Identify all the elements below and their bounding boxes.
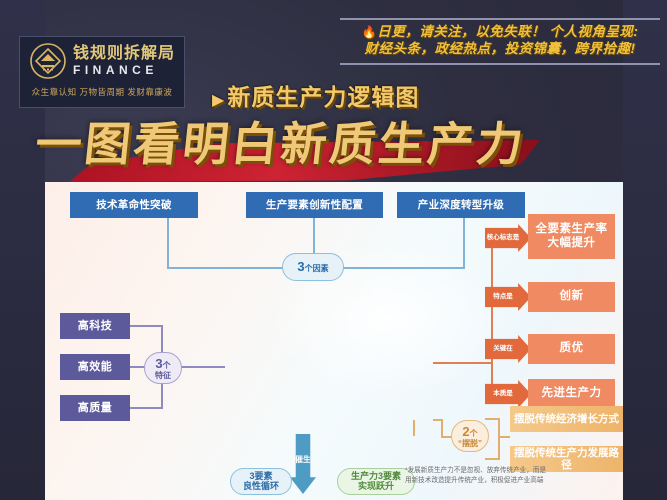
causal-arrow-label: 催生 xyxy=(295,454,311,465)
connector-line xyxy=(498,418,500,460)
connector-line xyxy=(433,362,493,364)
factor-node-unit: 个 xyxy=(305,264,313,273)
brand-logo-row: 钱规则拆解局 FINANCE xyxy=(29,42,175,80)
right-box-innovation-label: 创新 xyxy=(560,290,584,303)
tag-arrow-essence: 本质是 xyxy=(485,380,531,408)
tag-arrow-core-marker: 核心标志是 xyxy=(485,224,531,252)
right-box-quality[interactable]: 质优 xyxy=(528,334,615,364)
left-box-high-tech[interactable]: 高科技 xyxy=(60,313,130,339)
diagram-footnote: *发展新质生产力不是忽视、放弃传统产业，而是 用新技术改造提升传统产业，积极促进… xyxy=(405,466,617,485)
tag-arrow-essence-label: 本质是 xyxy=(493,391,513,398)
right-box-productivity[interactable]: 全要素生产率 大幅提升 xyxy=(528,214,615,259)
escape-box-growth-mode[interactable]: 摆脱传统经济增长方式 xyxy=(510,406,623,432)
tag-arrow-core-marker-label: 核心标志是 xyxy=(487,235,520,242)
right-box-advanced-productivity[interactable]: 先进生产力 xyxy=(528,379,615,409)
brand-tagline: 众生靠认知 万物皆周期 发财靠康波 xyxy=(32,86,173,98)
top-box-technology-label: 技术革命性突破 xyxy=(96,199,172,211)
brand-name-cn: 钱规则拆解局 xyxy=(73,46,175,62)
escape-node-line1: 2个 xyxy=(462,423,477,441)
trait-node-number: 3 xyxy=(155,356,162,371)
diagram-canvas: 技术革命性突破 生产要素创新性配置 产业深度转型升级 3个因素 催生 高科技 高… xyxy=(45,182,623,500)
trait-count-node: 3个 特征 xyxy=(144,352,182,384)
right-box-innovation[interactable]: 创新 xyxy=(528,282,615,312)
right-box-advanced-productivity-label: 先进生产力 xyxy=(542,387,602,400)
connector-line xyxy=(413,420,415,436)
brand-text: 钱规则拆解局 FINANCE xyxy=(73,46,175,76)
flame-icon: 🔥 xyxy=(362,25,377,39)
left-box-high-quality-label: 高质量 xyxy=(78,402,113,415)
connector-line xyxy=(463,218,465,268)
connector-line xyxy=(485,418,499,420)
top-box-technology[interactable]: 技术革命性突破 xyxy=(70,192,198,218)
bottom-node-productivity-leap: 生产力3要素 实现跃升 xyxy=(337,468,415,495)
promo-line-1: 🔥日更，请关注，以免失联！ 个人视角呈现: xyxy=(340,24,660,41)
escape-count-node: 2个 “摆脱” xyxy=(451,420,489,452)
right-box-productivity-label: 全要素生产率 大幅提升 xyxy=(536,223,608,249)
factor-node-number: 3 xyxy=(297,259,304,274)
brand-name-en: FINANCE xyxy=(73,64,175,76)
right-box-quality-label: 质优 xyxy=(560,342,584,355)
escape-box-growth-mode-label: 摆脱传统经济增长方式 xyxy=(514,413,619,425)
escape-node-unit: 个 xyxy=(470,429,478,438)
left-box-high-quality[interactable]: 高质量 xyxy=(60,395,130,421)
promo-line-2: 财经头条，政经热点，投资锦囊，跨界拾趣! xyxy=(340,41,660,58)
trait-node-line1: 3个 xyxy=(155,355,170,373)
factor-node-word: 因素 xyxy=(313,264,329,273)
connector-line xyxy=(498,436,510,438)
trait-node-unit: 个 xyxy=(163,361,171,370)
promo-line-1-text: 日更，请关注，以免失联！ 个人视角呈现: xyxy=(377,24,638,39)
tag-arrow-feature: 特点是 xyxy=(485,283,531,311)
top-box-industry-upgrade-label: 产业深度转型升级 xyxy=(418,199,504,211)
tag-arrow-key-label: 关键在 xyxy=(493,346,513,353)
brand-logo-box: 钱规则拆解局 FINANCE 众生靠认知 万物皆周期 发财靠康波 xyxy=(19,36,185,108)
promo-banner: 🔥日更，请关注，以免失联！ 个人视角呈现: 财经头条，政经热点，投资锦囊，跨界拾… xyxy=(340,18,660,65)
factor-count-node: 3个因素 xyxy=(282,253,344,281)
poster-subtitle-text: 新质生产力逻辑图 xyxy=(227,84,419,110)
connector-line xyxy=(485,458,499,460)
trait-node-word: 特征 xyxy=(155,372,171,381)
tag-arrow-key: 关键在 xyxy=(485,335,531,363)
top-box-industry-upgrade[interactable]: 产业深度转型升级 xyxy=(397,192,525,218)
top-box-factor-allocation[interactable]: 生产要素创新性配置 xyxy=(246,192,383,218)
connector-line xyxy=(167,218,169,268)
bottom-node-productivity-leap-line2: 实现跃升 xyxy=(358,482,394,492)
bottom-node-three-elements: 3要素 良性循环 xyxy=(230,468,292,495)
connector-line xyxy=(130,325,163,327)
bottom-node-three-elements-line2: 良性循环 xyxy=(243,482,279,492)
factor-node-text: 3个因素 xyxy=(297,260,328,274)
play-triangle-icon: ▶ xyxy=(212,92,225,109)
connector-line xyxy=(441,419,443,437)
poster-subtitle: ▶新质生产力逻辑图 xyxy=(212,78,419,112)
tag-arrow-feature-label: 特点是 xyxy=(493,294,513,301)
left-box-high-tech-label: 高科技 xyxy=(78,320,113,333)
left-box-high-efficiency[interactable]: 高效能 xyxy=(60,354,130,380)
escape-node-word: “摆脱” xyxy=(458,440,482,449)
escape-node-number: 2 xyxy=(462,424,469,439)
top-box-factor-allocation-label: 生产要素创新性配置 xyxy=(266,199,363,211)
causal-down-arrow: 催生 xyxy=(290,434,316,494)
page-title: 一图看明白新质生产力 xyxy=(33,108,640,174)
left-box-high-efficiency-label: 高效能 xyxy=(78,361,113,374)
right-background-panel xyxy=(623,0,667,500)
poster-root: 钱规则拆解局 FINANCE 众生靠认知 万物皆周期 发财靠康波 🔥日更，请关注… xyxy=(0,0,667,500)
connector-line xyxy=(130,407,163,409)
diamond-logo-icon xyxy=(29,42,67,80)
